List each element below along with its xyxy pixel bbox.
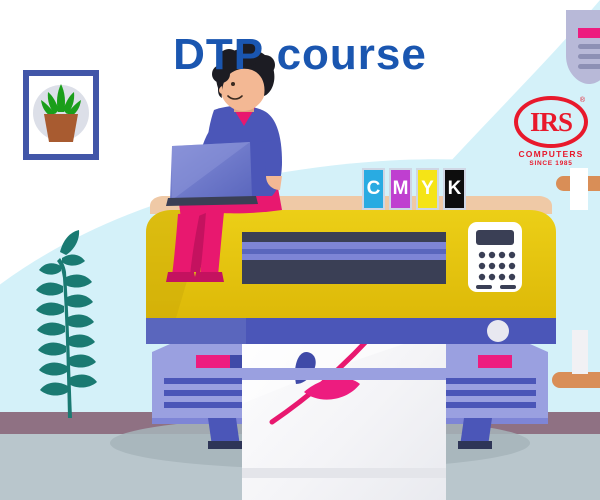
framed-plant-picture xyxy=(23,70,99,160)
cabinet-right-indicator-pink xyxy=(478,355,512,368)
registered-trademark-icon: ® xyxy=(580,97,585,104)
logo-subtitle: COMPUTERS xyxy=(508,149,594,159)
cmyk-chip-cyan[interactable]: C xyxy=(362,168,385,210)
illustration-canvas: DTP course C M Y K IRS ® COMPUTERS SINCE… xyxy=(0,0,600,500)
shelf-upper-object xyxy=(570,168,588,210)
cmyk-swatch-row: C M Y K xyxy=(362,168,466,210)
scene-artwork xyxy=(0,0,600,500)
cabinet-left-indicator-pink xyxy=(196,355,230,368)
printer-knob xyxy=(487,320,509,342)
logo-since-text: SINCE 1985 xyxy=(508,160,594,167)
control-panel-display xyxy=(476,230,514,245)
logo-ring: IRS ® xyxy=(514,96,588,148)
wall-shelf-lower xyxy=(552,372,600,388)
shelf-lower-object xyxy=(572,330,588,374)
wall-notice-board xyxy=(566,10,600,84)
logo-wordmark: IRS xyxy=(530,109,572,136)
cmyk-chip-key-black[interactable]: K xyxy=(443,168,466,210)
cmyk-chip-yellow[interactable]: Y xyxy=(416,168,439,210)
irs-computers-logo: IRS ® COMPUTERS SINCE 1985 xyxy=(508,96,594,166)
control-panel[interactable] xyxy=(468,222,522,292)
cmyk-chip-magenta[interactable]: M xyxy=(389,168,412,210)
picture-plant-pot xyxy=(44,114,78,142)
notice-accent-block xyxy=(578,28,600,38)
paper-guide-bar xyxy=(242,368,446,380)
